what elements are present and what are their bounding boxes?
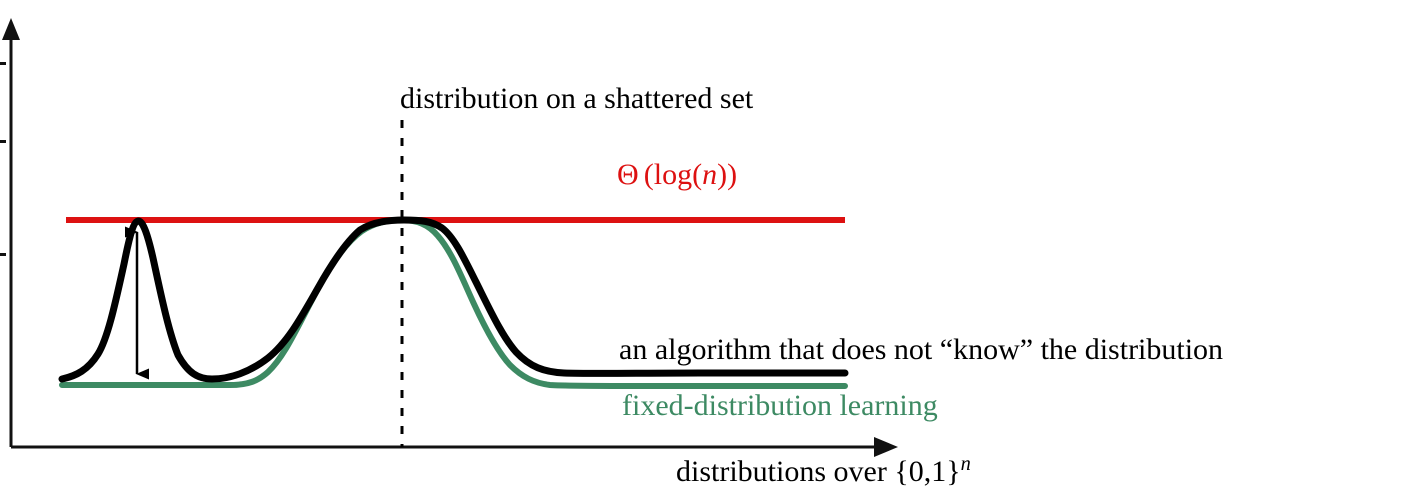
- annotation-fixed-distribution-learning: fixed-distribution learning: [622, 391, 938, 421]
- theta-symbol: Θ: [617, 158, 639, 191]
- theta-log-text: log(: [654, 158, 702, 191]
- y-axis-arrowhead-icon: [2, 18, 20, 40]
- y-tick-middle: [0, 140, 6, 143]
- annotation-theta-log-n: Θ(log(n)): [617, 160, 737, 190]
- annotation-algorithm-not-know: an algorithm that does not “know” the di…: [619, 335, 1223, 365]
- x-axis-label-exponent: n: [961, 453, 971, 475]
- x-axis-label-text: distributions over {0,1}: [676, 455, 961, 488]
- x-axis-label: distributions over {0,1}n: [676, 457, 971, 487]
- y-tick-upper: [0, 62, 6, 65]
- theta-close-parens: )): [717, 158, 737, 191]
- x-axis-arrowhead-icon: [874, 437, 898, 457]
- figure-canvas: distribution on a shattered set Θ(log(n)…: [0, 0, 1406, 496]
- theta-variable-n: n: [702, 158, 717, 191]
- y-tick-lower: [0, 253, 6, 256]
- annotation-shattered-set: distribution on a shattered set: [400, 84, 753, 114]
- theta-open-paren: (: [644, 158, 654, 191]
